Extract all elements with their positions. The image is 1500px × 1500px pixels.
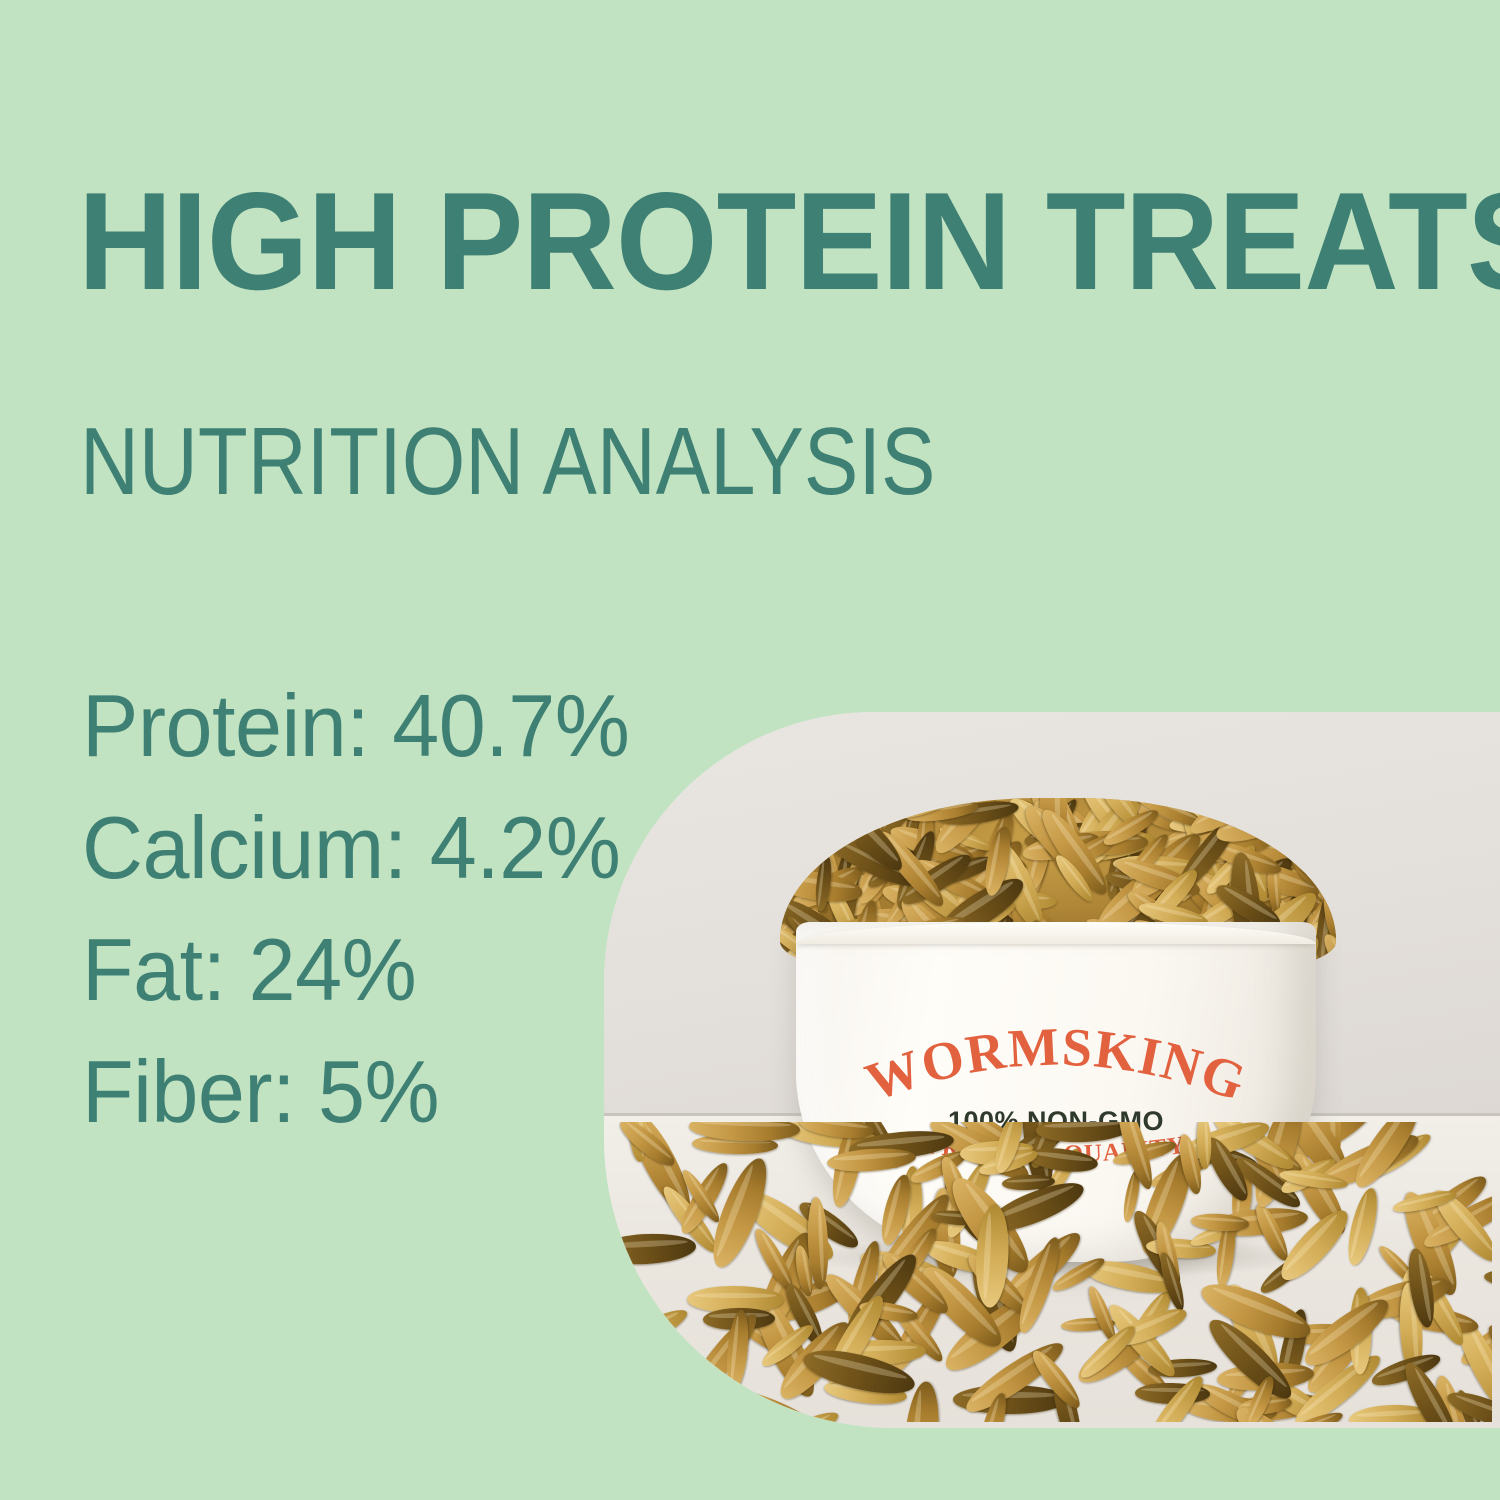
larva bbox=[1483, 1266, 1492, 1293]
larva bbox=[612, 1303, 691, 1366]
larvae-scatter bbox=[612, 1122, 1492, 1422]
brand-name-arc: WORMSKING bbox=[846, 1026, 1266, 1112]
page-title: HIGH PROTEIN TREATS bbox=[78, 172, 1500, 311]
larva bbox=[612, 1397, 667, 1422]
bowl-rim bbox=[796, 922, 1316, 944]
infographic-canvas: HIGH PROTEIN TREATS NUTRITION ANALYSIS P… bbox=[0, 0, 1500, 1500]
page-subtitle: NUTRITION ANALYSIS bbox=[80, 414, 935, 510]
svg-text:WORMSKING: WORMSKING bbox=[858, 1026, 1254, 1112]
larva bbox=[612, 1231, 697, 1266]
product-photo: WORMSKING 100% NON-GMO PREMIUM QUALITY bbox=[604, 712, 1500, 1428]
larva bbox=[1342, 1186, 1381, 1268]
